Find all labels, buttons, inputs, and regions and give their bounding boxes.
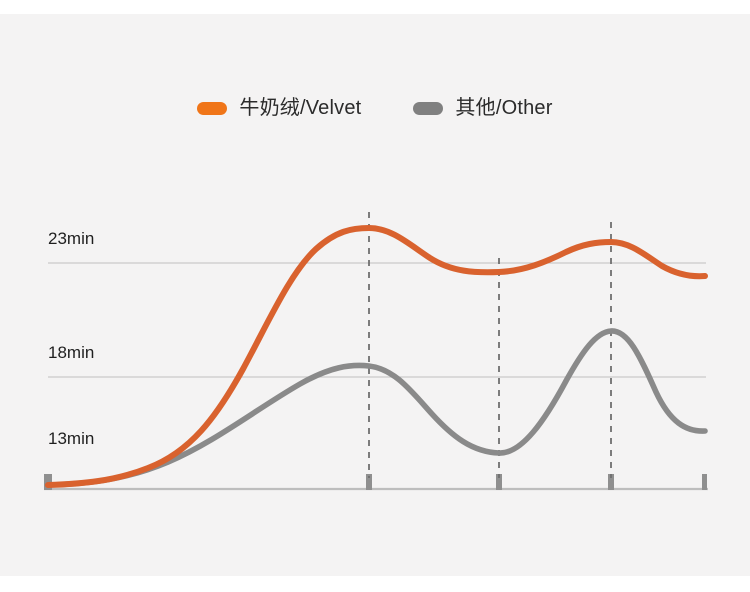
x-axis-tick-4 [702,474,707,490]
line-chart-plot [0,0,750,592]
chart-canvas: 牛奶绒/Velvet 其他/Other 23min 18min 13min [0,0,750,592]
series-line-other [48,331,705,485]
series-line-velvet [48,228,705,485]
